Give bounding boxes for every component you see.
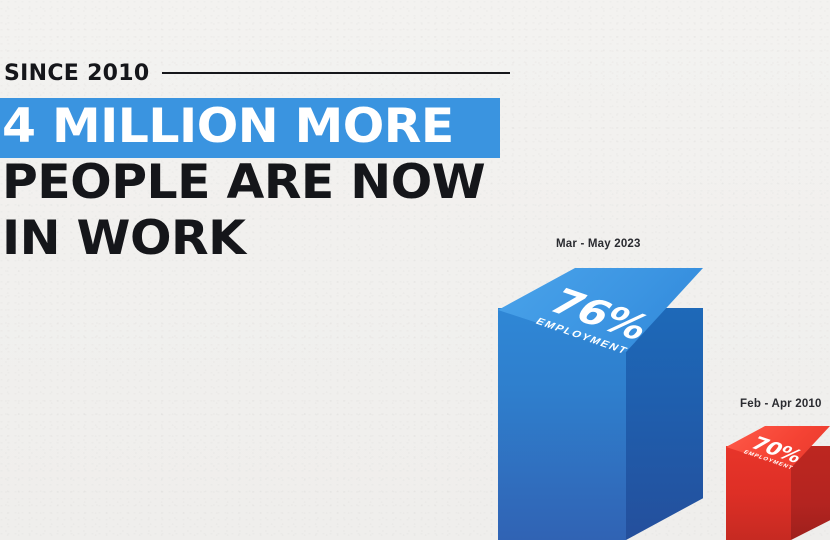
- infographic-canvas: SINCE 2010 4 MILLION MORE PEOPLE ARE NOW…: [0, 0, 830, 540]
- kicker-row: SINCE 2010: [0, 57, 520, 89]
- bar-label-2023: Mar - May 2023: [556, 238, 641, 250]
- headline-line-3: IN WORK: [2, 211, 245, 267]
- bar-2023: 76% EMPLOYMENT: [498, 268, 703, 540]
- bar-2010: 70% EMPLOYMENT: [726, 426, 830, 540]
- bar-label-2010: Feb - Apr 2010: [740, 398, 822, 410]
- headline-line-1: 4 MILLION MORE: [2, 99, 454, 155]
- kicker-rule: [162, 72, 510, 74]
- headline-line-2: PEOPLE ARE NOW: [2, 155, 485, 211]
- kicker-text: SINCE 2010: [0, 61, 150, 86]
